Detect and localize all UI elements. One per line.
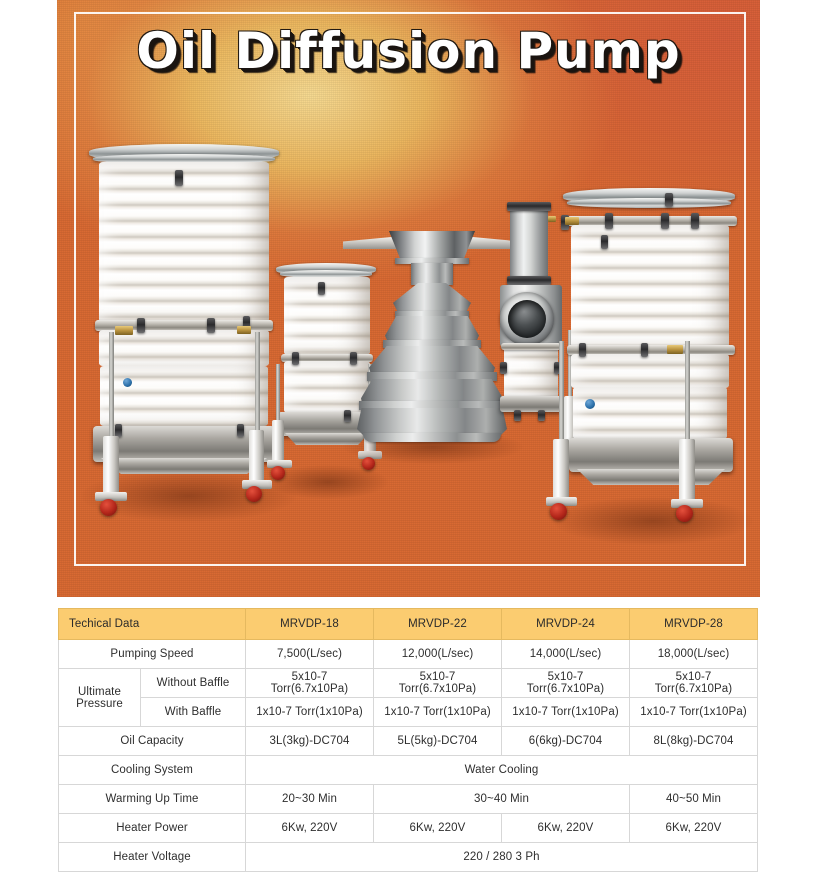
pump-base-skirt — [577, 469, 725, 485]
page-root: Oil Diffusion Pump Techical Data MRVDP-1… — [0, 0, 820, 893]
pump-leg-rod — [559, 341, 564, 445]
jet-top-crown — [389, 231, 475, 261]
cylinder-port-fitting — [548, 216, 556, 222]
header-cell-model-1: MRVDP-18 — [246, 609, 374, 640]
row-label-heater-voltage: Heater Voltage — [59, 843, 246, 872]
cylinder-end-cap-top — [507, 202, 551, 211]
pump-brass-fitting — [237, 326, 251, 334]
pump-clamp — [237, 424, 244, 437]
pump-clamp — [579, 343, 586, 357]
cell-oil-capacity-1: 3L(3kg)-DC704 — [246, 727, 374, 756]
pump-brass-fitting — [565, 217, 579, 225]
pump-caster — [100, 499, 117, 516]
cell-with-baffle-2: 1x10-7 Torr(1x10Pa) — [374, 698, 502, 727]
pump-clamp — [641, 343, 648, 357]
pump-leg-rod — [276, 364, 280, 426]
pump-base-skirt — [101, 458, 267, 474]
cell-oil-capacity-4: 8L(8kg)-DC704 — [630, 727, 758, 756]
pump-caster — [271, 466, 285, 480]
valve-base — [500, 396, 562, 412]
row-label-heater-power: Heater Power — [59, 814, 246, 843]
pump-clamp — [207, 318, 215, 333]
row-label-ultimate-pressure-line2: Pressure — [76, 698, 123, 710]
pump-clamp — [318, 282, 325, 295]
cell-pumping-speed-1: 7,500(L/sec) — [246, 640, 374, 669]
sublabel-without-baffle: Without Baffle — [141, 669, 246, 698]
table-row-heater-power: Heater Power 6Kw, 220V 6Kw, 220V 6Kw, 22… — [59, 814, 758, 843]
pump-shadow — [553, 497, 753, 545]
pump-upper-body — [571, 225, 729, 347]
valve-lower-collar — [501, 343, 561, 350]
header-cell-model-4: MRVDP-28 — [630, 609, 758, 640]
cell-heater-power-4: 6Kw, 220V — [630, 814, 758, 843]
valve-port-opening — [508, 300, 546, 338]
header-cell-model-3: MRVDP-24 — [502, 609, 630, 640]
table-row-cooling-system: Cooling System Water Cooling — [59, 756, 758, 785]
cell-with-baffle-4: 1x10-7 Torr(1x10Pa) — [630, 698, 758, 727]
pump-mid-body — [571, 354, 729, 388]
pump-clamp — [691, 213, 699, 229]
header-cell-technical-data: Techical Data — [59, 609, 246, 640]
cell-pumping-speed-2: 12,000(L/sec) — [374, 640, 502, 669]
pump-brass-fitting — [115, 326, 133, 335]
table-row-oil-capacity: Oil Capacity 3L(3kg)-DC704 5L(5kg)-DC704… — [59, 727, 758, 756]
pump-leg-rod — [685, 341, 690, 445]
table-row-heater-voltage: Heater Voltage 220 / 280 3 Ph — [59, 843, 758, 872]
page-title: Oil Diffusion Pump — [57, 22, 760, 80]
pump-leg — [679, 439, 695, 503]
pump-valve-knob — [585, 399, 595, 409]
row-label-oil-capacity: Oil Capacity — [59, 727, 246, 756]
cell-warming-up-time-4: 40~50 Min — [630, 785, 758, 814]
product-photo-panel: Oil Diffusion Pump — [57, 0, 760, 597]
cell-heater-power-1: 6Kw, 220V — [246, 814, 374, 843]
valve-clamp — [500, 362, 507, 374]
cell-with-baffle-3: 1x10-7 Torr(1x10Pa) — [502, 698, 630, 727]
row-label-warming-up-time: Warming Up Time — [59, 785, 246, 814]
cell-without-baffle-1: 5x10-7 Torr(6.7x10Pa) — [246, 669, 374, 698]
pump-clamp — [601, 235, 608, 249]
pump-clamp — [665, 193, 673, 207]
cell-oil-capacity-3: 6(6kg)-DC704 — [502, 727, 630, 756]
pump-large-right — [557, 185, 747, 545]
cell-heater-power-3: 6Kw, 220V — [502, 814, 630, 843]
pump-leg — [272, 420, 284, 464]
jet-neck — [411, 263, 453, 285]
row-label-pumping-speed: Pumping Speed — [59, 640, 246, 669]
valve-clamp — [514, 410, 521, 421]
cell-pumping-speed-3: 14,000(L/sec) — [502, 640, 630, 669]
valve-clamp — [538, 410, 545, 421]
pump-top-flange-lip — [567, 198, 731, 208]
pump-large-left — [87, 140, 287, 520]
pump-boiler-base — [569, 438, 733, 472]
cell-without-baffle-3: 5x10-7 Torr(6.7x10Pa) — [502, 669, 630, 698]
sublabel-with-baffle: With Baffle — [141, 698, 246, 727]
cell-pumping-speed-4: 18,000(L/sec) — [630, 640, 758, 669]
pump-leg-rod — [255, 332, 260, 434]
cell-warming-up-time-1: 20~30 Min — [246, 785, 374, 814]
pump-clamp — [661, 213, 669, 229]
row-label-ultimate-pressure-line1: Ultimate — [78, 686, 121, 698]
cell-with-baffle-1: 1x10-7 Torr(1x10Pa) — [246, 698, 374, 727]
pump-caster — [676, 505, 693, 522]
header-cell-model-2: MRVDP-22 — [374, 609, 502, 640]
cell-oil-capacity-2: 5L(5kg)-DC704 — [374, 727, 502, 756]
cell-heater-power-2: 6Kw, 220V — [374, 814, 502, 843]
table-row-warming-up-time: Warming Up Time 20~30 Min 30~40 Min 40~5… — [59, 785, 758, 814]
row-label-ultimate-pressure: Ultimate Pressure — [59, 669, 141, 727]
pump-leg — [553, 439, 569, 501]
cell-without-baffle-2: 5x10-7 Torr(6.7x10Pa) — [374, 669, 502, 698]
pump-upper-body — [99, 162, 269, 322]
table-row-pumping-speed: Pumping Speed 7,500(L/sec) 12,000(L/sec)… — [59, 640, 758, 669]
pump-caster — [550, 503, 567, 520]
pump-leg-rod — [109, 332, 114, 440]
cell-warming-up-time-2-3: 30~40 Min — [374, 785, 630, 814]
cell-without-baffle-4: 5x10-7 Torr(6.7x10Pa) — [630, 669, 758, 698]
pump-lower-body — [100, 366, 268, 426]
pump-mid-body — [99, 330, 269, 366]
jet-base-rim — [363, 433, 501, 442]
table-header-row: Techical Data MRVDP-18 MRVDP-22 MRVDP-24… — [59, 609, 758, 640]
pump-valve-knob — [123, 378, 132, 387]
pump-clamp — [137, 318, 145, 333]
table-row-ultimate-pressure-without-baffle: Ultimate Pressure Without Baffle 5x10-7 … — [59, 669, 758, 698]
pneumatic-cylinder — [510, 206, 548, 282]
pump-leg — [249, 430, 264, 484]
pump-leg — [103, 436, 119, 496]
cell-heater-voltage-all: 220 / 280 3 Ph — [246, 843, 758, 872]
pump-clamp — [292, 352, 299, 365]
pump-shadow — [268, 465, 388, 499]
row-label-cooling-system: Cooling System — [59, 756, 246, 785]
cylinder-end-cap-bottom — [507, 276, 551, 285]
pump-clamp — [605, 213, 613, 229]
pump-lower-body — [573, 387, 727, 439]
cell-cooling-system-all: Water Cooling — [246, 756, 758, 785]
valve-lower-body — [504, 346, 558, 398]
pump-brass-fitting — [667, 345, 683, 354]
pump-caster — [246, 486, 262, 502]
table-row-ultimate-pressure-with-baffle: With Baffle 1x10-7 Torr(1x10Pa) 1x10-7 T… — [59, 698, 758, 727]
pump-clamp — [175, 170, 183, 186]
technical-data-table: Techical Data MRVDP-18 MRVDP-22 MRVDP-24… — [58, 608, 758, 872]
